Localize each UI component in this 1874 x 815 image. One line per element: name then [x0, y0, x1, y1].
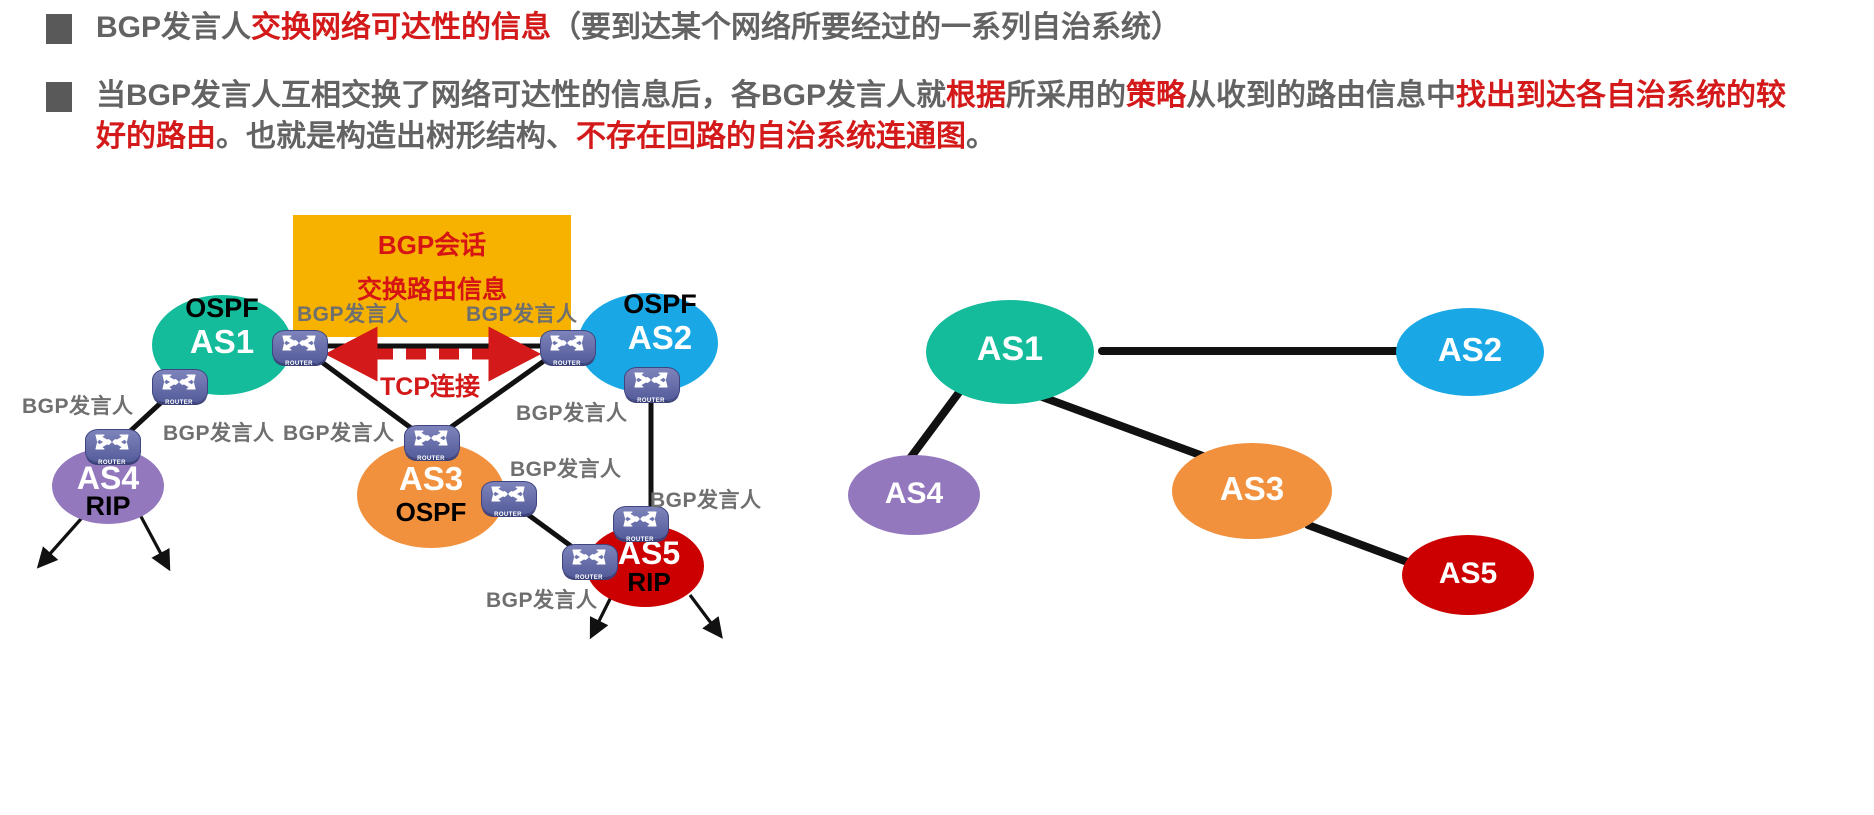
router-arrow-cross-icon [159, 372, 199, 392]
bullet-1-run-2: （要到达某个网络所要经过的一系列自治系统） [551, 11, 1181, 44]
as2-label: AS2 [590, 319, 730, 357]
router-caption: ROUTER [272, 361, 326, 367]
tree-as1-label: AS1 [926, 330, 1094, 369]
bullet-2-run-2: 所采用的 [1006, 79, 1126, 112]
as1-protocol-label: OSPF [152, 293, 292, 324]
router-icon-as3-top[interactable]: ROUTER [404, 421, 458, 461]
tree-as3-label: AS3 [1172, 470, 1332, 508]
slide-root: BGP发言人交换网络可达性的信息（要到达某个网络所要经过的一系列自治系统） 当B… [0, 0, 1874, 812]
router-icon-as5-left[interactable]: ROUTER [562, 540, 616, 580]
router-caption: ROUTER [562, 575, 616, 581]
speaker-label-box-left: BGP发言人 [297, 298, 409, 328]
router-caption: ROUTER [152, 400, 206, 406]
bullet-2-run-4: 从收到的路由信息中 [1186, 79, 1456, 112]
bullet-2-text: 当BGP发言人互相交换了网络可达性的信息后，各BGP发言人就根据所采用的策略从收… [96, 75, 1796, 157]
bullet-1-run-0: BGP发言人 [96, 11, 251, 44]
tree-edges [830, 195, 1874, 815]
router-arrow-cross-icon [547, 333, 587, 353]
bgp-session-title: BGP会话 [293, 225, 571, 262]
tree-as5-label: AS5 [1402, 557, 1534, 591]
router-caption: ROUTER [540, 361, 594, 367]
router-arrow-cross-icon [279, 333, 319, 353]
bullet-2-run-1: 根据 [946, 79, 1006, 112]
speaker-label-as4-right: BGP发言人 [163, 417, 275, 447]
router-icon-as3-right[interactable]: ROUTER [481, 477, 535, 517]
router-arrow-cross-icon [92, 432, 132, 452]
router-icon-as1-left[interactable]: ROUTER [152, 365, 206, 405]
router-caption: ROUTER [613, 537, 667, 543]
bullet-2-run-0: 当BGP发言人互相交换了网络可达性的信息后，各BGP发言人就 [96, 79, 946, 112]
speaker-label-as2-lower: BGP发言人 [516, 397, 628, 427]
bullet-2-run-6: 。也就是构造出树形结构、 [216, 120, 576, 153]
router-icon-as1-right[interactable]: ROUTER [272, 326, 326, 366]
router-caption: ROUTER [404, 456, 458, 462]
router-caption: ROUTER [481, 512, 535, 518]
tree-edge-as3-as5 [1308, 525, 1410, 563]
stub-as5-right [690, 595, 720, 635]
tree-edge-as1-as3 [1026, 391, 1222, 463]
tree-edge-as1-as4 [908, 391, 960, 461]
router-icon-as2-bottom[interactable]: ROUTER [624, 363, 678, 403]
bullet-square-icon [46, 14, 72, 44]
tree-as4-label: AS4 [848, 477, 980, 511]
speaker-label-as2-as5: BGP发言人 [650, 484, 762, 514]
as-connectivity-tree: AS1 AS2 AS3 AS4 AS5 [830, 195, 1874, 815]
router-arrow-cross-icon [569, 547, 609, 567]
speaker-label-box-right: BGP发言人 [466, 298, 578, 328]
bullet-square-icon [46, 82, 72, 112]
as1-label: AS1 [152, 323, 292, 361]
router-caption: ROUTER [624, 398, 678, 404]
bullet-1-run-1: 交换网络可达性的信息 [251, 11, 551, 44]
router-icon-as4-top[interactable]: ROUTER [85, 425, 139, 465]
speaker-label-as3-right: BGP发言人 [510, 453, 622, 483]
speaker-label-as1-lower: BGP发言人 [283, 417, 395, 447]
router-icon-as2-left[interactable]: ROUTER [540, 326, 594, 366]
router-arrow-cross-icon [631, 370, 671, 390]
bgp-topology-detailed: AS4 RIP OSPF AS1 OSPF AS2 AS3 OSPF AS5 R… [0, 195, 940, 815]
tree-as2-label: AS2 [1396, 331, 1544, 369]
bullet-2-run-3: 策略 [1126, 79, 1186, 112]
router-arrow-cross-icon [411, 428, 451, 448]
bullet-2-run-7: 不存在回路的自治系统连通图 [576, 120, 966, 153]
as4-protocol-label: RIP [52, 491, 164, 522]
bullet-2-run-8: 。 [966, 120, 996, 153]
speaker-label-as5-left: BGP发言人 [486, 584, 598, 614]
speaker-label-as4-left: BGP发言人 [22, 390, 134, 420]
as2-protocol-label: OSPF [590, 289, 730, 320]
bullet-1-text: BGP发言人交换网络可达性的信息（要到达某个网络所要经过的一系列自治系统） [96, 7, 1181, 48]
tcp-label: TCP连接 [380, 367, 480, 403]
router-caption: ROUTER [85, 460, 139, 466]
router-arrow-cross-icon [488, 484, 528, 504]
